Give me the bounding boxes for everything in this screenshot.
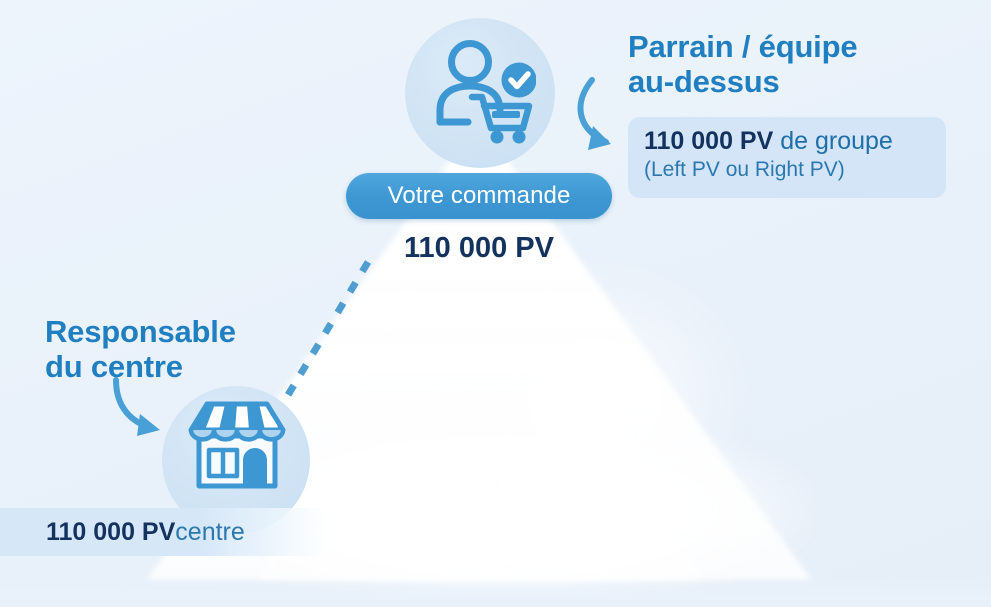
center-manager-heading: Responsable du centre	[45, 315, 305, 384]
center-volume-suffix: centre	[175, 518, 244, 547]
sponsor-heading-line2: au-dessus	[628, 65, 958, 100]
sponsor-heading: Parrain / équipe au-dessus	[628, 30, 958, 99]
top-node-circle	[405, 18, 555, 168]
center-volume-box: 110 000 PV centre	[0, 508, 328, 556]
order-badge[interactable]: Votre commande	[346, 173, 612, 219]
center-heading-line2: du centre	[45, 350, 305, 385]
group-volume-detail: (Left PV ou Right PV)	[644, 157, 930, 184]
center-heading-line1: Responsable	[45, 315, 305, 350]
center-volume-value: 110 000 PV	[46, 518, 175, 547]
pyramid-glow-upper	[430, 250, 760, 550]
pyramid-glow	[255, 430, 815, 607]
floor-band	[0, 581, 991, 607]
group-volume-value: 110 000 PV	[644, 127, 773, 155]
order-badge-label: Votre commande	[388, 182, 571, 210]
group-volume-suffix: de groupe	[773, 127, 893, 155]
order-value: 110 000 PV	[346, 232, 612, 265]
infographic-canvas: Votre commande 110 000 PV Parrain / équi…	[0, 0, 991, 607]
group-volume-box: 110 000 PV de groupe (Left PV ou Right P…	[628, 117, 946, 198]
sponsor-heading-line1: Parrain / équipe	[628, 30, 958, 65]
group-volume-line: 110 000 PV de groupe	[644, 126, 930, 157]
